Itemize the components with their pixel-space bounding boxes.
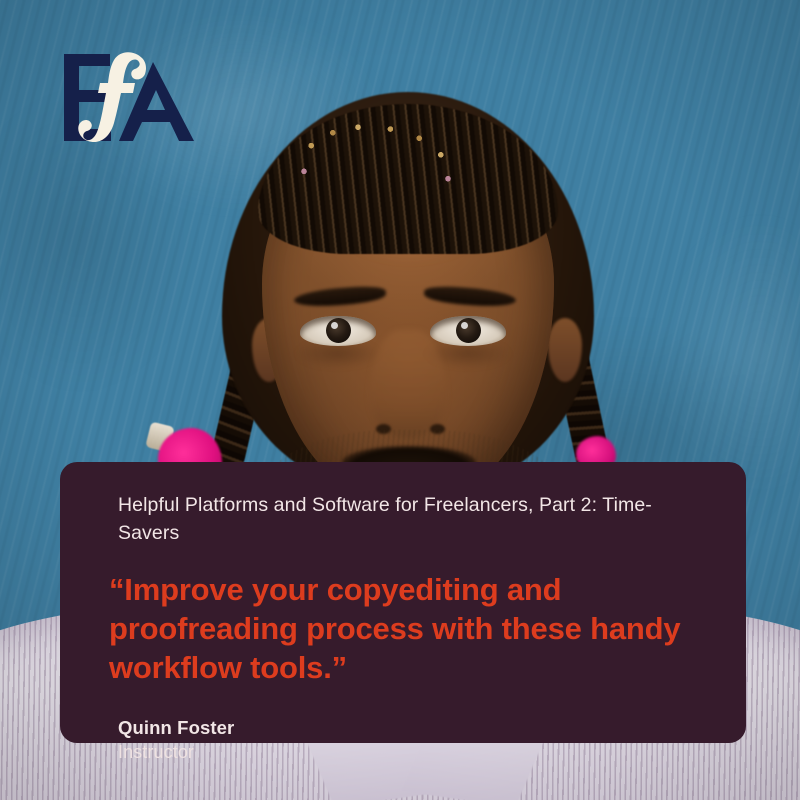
attribution-role: Instructor xyxy=(118,740,702,764)
eye-right xyxy=(430,316,506,346)
promo-graphic: Helpful Platforms and Software for Freel… xyxy=(0,0,800,800)
attribution-name: Quinn Foster xyxy=(118,716,702,740)
undereye-shadow-left xyxy=(296,344,380,368)
panel-quote: “Improve your copyediting and proofreadi… xyxy=(109,570,702,687)
panel-title: Helpful Platforms and Software for Freel… xyxy=(118,492,702,547)
hair-beads xyxy=(286,118,466,210)
efa-logo xyxy=(58,46,198,150)
attribution: Quinn Foster Instructor xyxy=(118,716,702,764)
iris-right xyxy=(456,318,481,343)
iris-left xyxy=(326,318,351,343)
eye-left xyxy=(300,316,376,346)
quote-panel: Helpful Platforms and Software for Freel… xyxy=(60,462,746,743)
